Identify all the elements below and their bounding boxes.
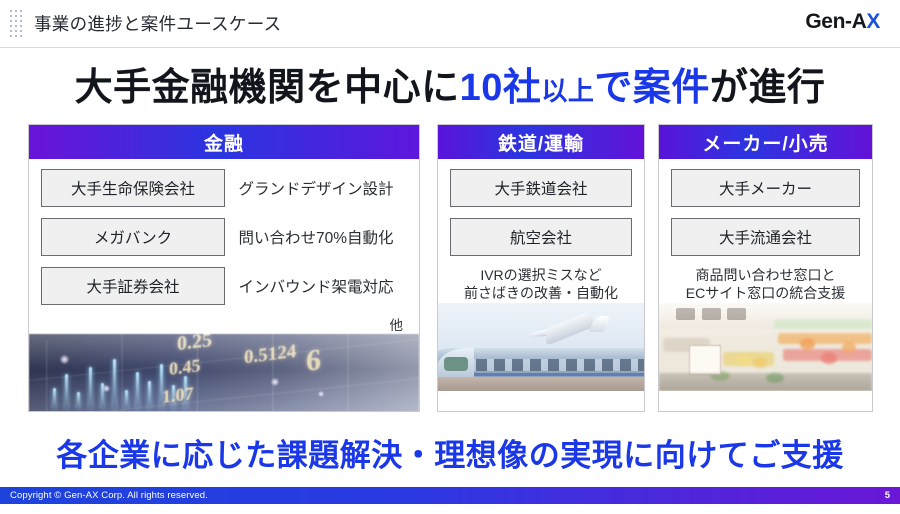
- finance-photo: 0.25 0.45 1.07 0.5124 6: [29, 334, 419, 412]
- table-row: 大手証券会社 インバウンド架電対応: [41, 267, 407, 305]
- company-chip: 航空会社: [450, 218, 632, 256]
- summary-banner-text: 各企業に応じた課題解決・理想像の実現に向けてご支援: [56, 430, 844, 475]
- category-panel-transit: 鉄道/運輸 大手鉄道会社 航空会社 IVRの選択ミスなど 前さばきの改善・自動化: [437, 124, 645, 412]
- panel-note-other: 他: [41, 314, 407, 334]
- footer-padding: [0, 504, 900, 514]
- headline: 大手金融機関を中心に10社以上で案件が進行: [0, 56, 900, 111]
- panel-header-retail: メーカー/小売: [659, 125, 872, 159]
- summary-banner: 各企業に応じた課題解決・理想像の実現に向けてご支援: [0, 426, 900, 478]
- table-row: 大手鉄道会社: [450, 169, 632, 207]
- retail-photo: [659, 303, 872, 391]
- company-chip: 大手生命保険会社: [41, 169, 225, 207]
- transit-photo: [438, 303, 644, 391]
- table-row: 航空会社: [450, 218, 632, 256]
- panel-header-transit: 鉄道/運輸: [438, 125, 644, 159]
- panel-header-finance: 金融: [29, 125, 419, 159]
- slide-header: 事業の進捗と案件ユースケース Gen-AX: [0, 0, 900, 48]
- headline-part1: 大手金融機関を中心に: [75, 67, 460, 109]
- copyright-text: Copyright © Gen-AX Corp. All rights rese…: [10, 490, 208, 501]
- store-price-sign: [689, 345, 721, 375]
- panel-note-line: 商品問い合わせ窓口と: [671, 267, 860, 285]
- slide: 事業の進捗と案件ユースケース Gen-AX 大手金融機関を中心に10社以上で案件…: [0, 0, 900, 514]
- store-floor: [659, 373, 872, 391]
- headline-part2: が進行: [710, 67, 826, 109]
- category-panel-retail: メーカー/小売 大手メーカー 大手流通会社 商品問い合わせ窓口と ECサイト窓口…: [658, 124, 873, 412]
- table-row: 大手メーカー: [671, 169, 860, 207]
- category-panel-finance: 金融 大手生命保険会社 グランドデザイン設計 メガバンク 問い合わせ70%自動化…: [28, 124, 420, 412]
- guideway: [438, 377, 644, 391]
- panel-note-retail: 商品問い合わせ窓口と ECサイト窓口の統合支援: [671, 267, 860, 303]
- panel-note-line: 前さばきの改善・自動化: [450, 285, 632, 303]
- panel-note-line: ECサイト窓口の統合支援: [671, 285, 860, 303]
- company-chip: 大手流通会社: [671, 218, 860, 256]
- logo-text-x: X: [866, 10, 880, 33]
- panel-body-transit: 大手鉄道会社 航空会社 IVRの選択ミスなど 前さばきの改善・自動化: [438, 159, 644, 303]
- panel-note-transit: IVRの選択ミスなど 前さばきの改善・自動化: [450, 267, 632, 303]
- usecase-label: 問い合わせ70%自動化: [225, 226, 407, 248]
- panel-body-retail: 大手メーカー 大手流通会社 商品問い合わせ窓口と ECサイト窓口の統合支援: [659, 159, 872, 303]
- gen-ax-logo: Gen-AX: [805, 10, 880, 34]
- slide-footer: Copyright © Gen-AX Corp. All rights rese…: [0, 487, 900, 504]
- company-chip: 大手メーカー: [671, 169, 860, 207]
- panel-body-finance: 大手生命保険会社 グランドデザイン設計 メガバンク 問い合わせ70%自動化 大手…: [29, 159, 419, 334]
- finance-photo-number: 6: [306, 343, 321, 379]
- table-row: 大手流通会社: [671, 218, 860, 256]
- page-number: 5: [885, 490, 890, 501]
- table-row: 大手生命保険会社 グランドデザイン設計: [41, 169, 407, 207]
- dotted-grid-decoration-icon: [10, 10, 24, 40]
- headline-blue-part2: で案件: [594, 67, 710, 109]
- logo-text-gen: Gen-: [805, 10, 851, 33]
- page-title: 事業の進捗と案件ユースケース: [34, 11, 281, 36]
- company-chip: メガバンク: [41, 218, 225, 256]
- logo-text-a: A: [852, 10, 867, 33]
- finance-photo-number: 0.45: [169, 355, 201, 380]
- usecase-label: グランドデザイン設計: [225, 177, 407, 199]
- company-chip: 大手鉄道会社: [450, 169, 632, 207]
- airplane-icon: [520, 310, 611, 347]
- finance-photo-number: 1.07: [162, 383, 194, 408]
- usecase-label: インバウンド架電対応: [225, 275, 407, 297]
- headline-blue-suffix: 以上: [541, 76, 594, 106]
- table-row: メガバンク 問い合わせ70%自動化: [41, 218, 407, 256]
- company-chip: 大手証券会社: [41, 267, 225, 305]
- header-divider: [0, 47, 900, 48]
- headline-blue-count: 10社: [460, 67, 542, 109]
- panel-note-line: IVRの選択ミスなど: [450, 267, 632, 285]
